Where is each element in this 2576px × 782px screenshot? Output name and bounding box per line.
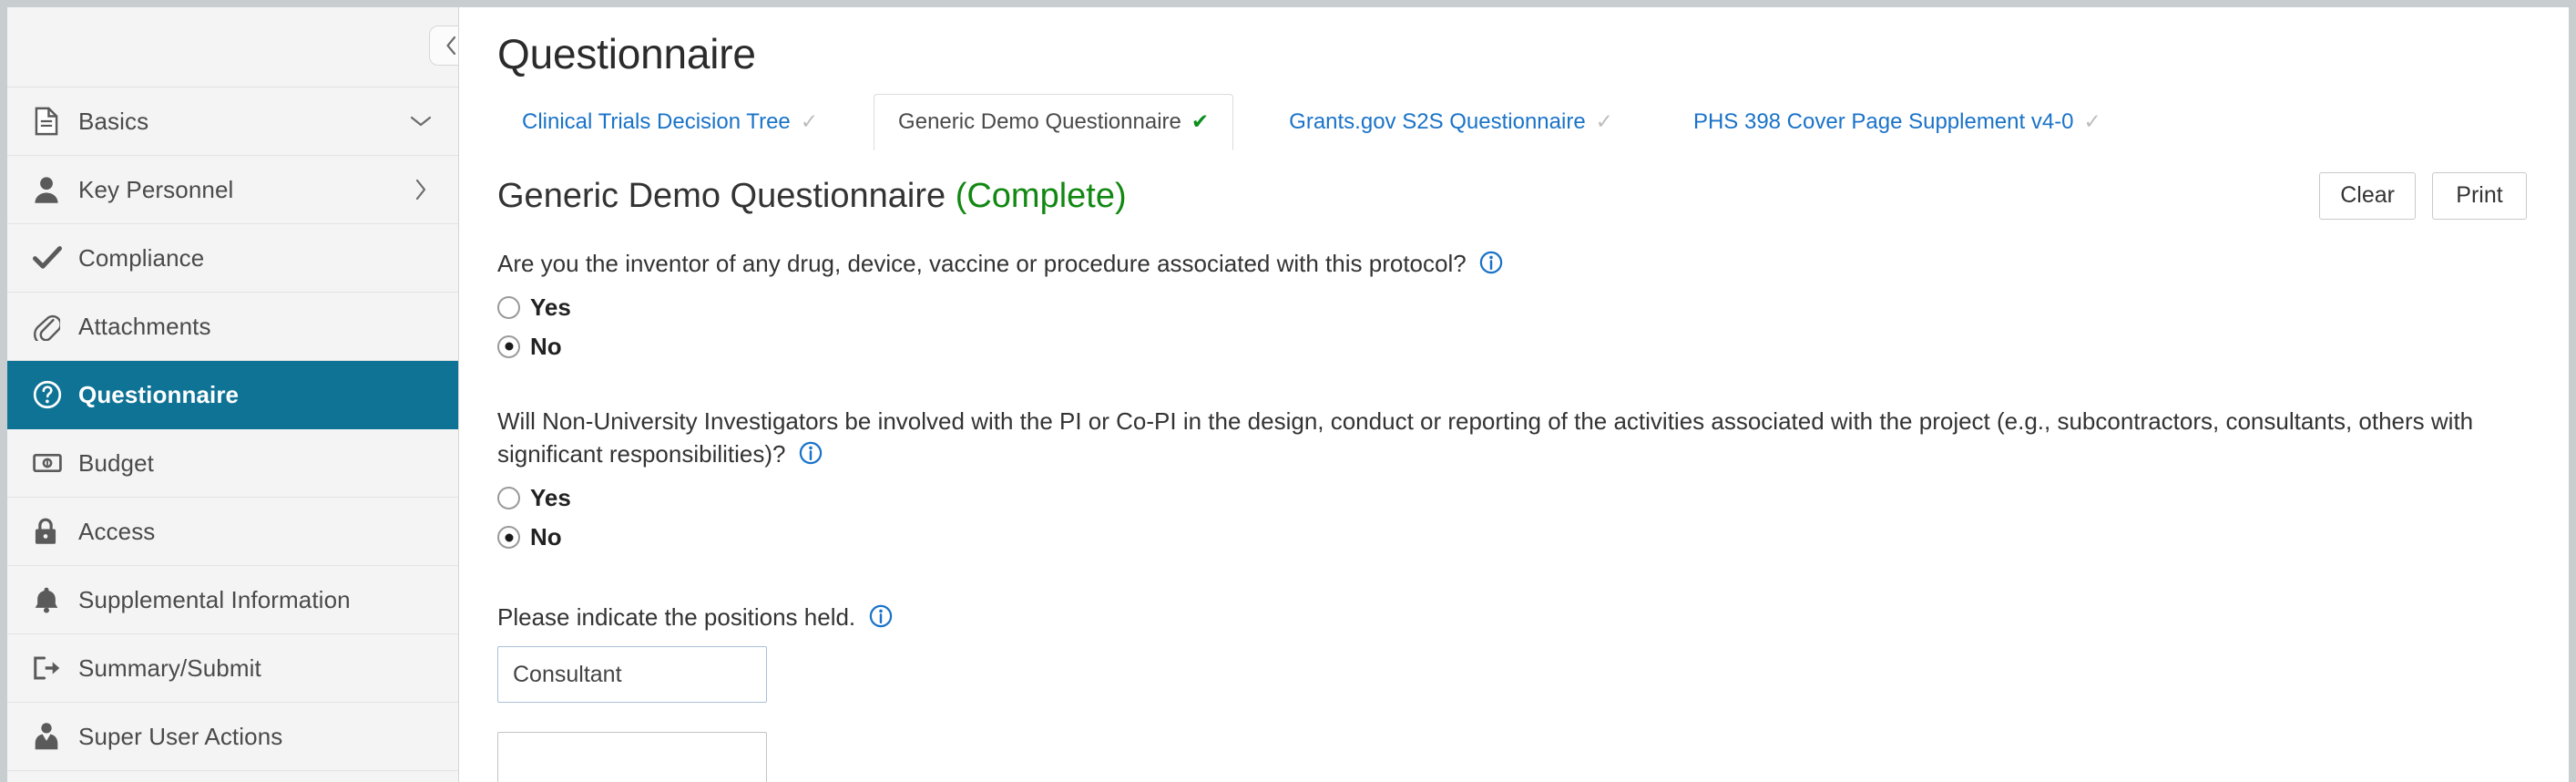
question-2-option-yes[interactable]: Yes — [497, 484, 571, 512]
question-2: Will Non-University Investigators be inv… — [497, 405, 2529, 552]
sidebar-item-label: Basics — [73, 108, 407, 136]
sidebar-item-budget[interactable]: Budget — [7, 429, 458, 498]
chevron-right-icon[interactable] — [407, 178, 434, 201]
check-icon: ✓ — [1596, 111, 1613, 132]
tab-label: Clinical Trials Decision Tree — [522, 109, 791, 135]
sidebar-item-key-personnel[interactable]: Key Personnel — [7, 156, 458, 224]
info-icon[interactable] — [869, 604, 893, 633]
question-1-option-yes[interactable]: Yes — [497, 293, 571, 322]
sidebar-item-supplemental-information[interactable]: Supplemental Information — [7, 566, 458, 634]
questionnaire-tabs: Clinical Trials Decision Tree ✓ Generic … — [497, 94, 2529, 150]
sidebar-item-label: Questionnaire — [73, 381, 407, 409]
paperclip-icon — [33, 312, 73, 341]
question-1: Are you the inventor of any drug, device… — [497, 247, 2529, 361]
sidebar-item-questionnaire[interactable]: Questionnaire — [7, 361, 458, 429]
section-title: Generic Demo Questionnaire (Complete) — [497, 172, 1127, 218]
sidebar: Basics Key Personnel — [7, 7, 459, 782]
radio-button[interactable] — [497, 296, 520, 319]
sidebar-item-label: Access — [73, 518, 407, 546]
check-icon — [33, 244, 73, 272]
tab-grants-gov-s2s-questionnaire[interactable]: Grants.gov S2S Questionnaire ✓ — [1264, 94, 1638, 150]
sidebar-item-summary-submit[interactable]: Summary/Submit — [7, 634, 458, 703]
info-icon[interactable] — [1479, 251, 1503, 279]
radio-label: No — [530, 523, 562, 551]
radio-label: No — [530, 333, 562, 361]
bell-icon — [33, 585, 73, 614]
money-icon — [33, 451, 73, 475]
section-header: Generic Demo Questionnaire (Complete) Cl… — [497, 172, 2529, 220]
exit-icon — [33, 654, 73, 682]
document-icon — [33, 107, 73, 136]
tab-generic-demo-questionnaire[interactable]: Generic Demo Questionnaire ✔ — [874, 94, 1233, 150]
app-frame: Basics Key Personnel — [7, 7, 2569, 782]
sidebar-item-attachments[interactable]: Attachments — [7, 293, 458, 361]
sidebar-item-compliance[interactable]: Compliance — [7, 224, 458, 293]
person-icon — [33, 175, 73, 204]
sidebar-item-super-user-actions[interactable]: Super User Actions — [7, 703, 458, 771]
lock-icon — [33, 517, 73, 546]
sidebar-item-basics[interactable]: Basics — [7, 87, 458, 156]
header-actions: Clear Print — [2319, 172, 2529, 220]
question-text: Are you the inventor of any drug, device… — [497, 250, 1467, 277]
sidebar-item-label: Attachments — [73, 313, 407, 341]
radio-label: Yes — [530, 293, 571, 322]
check-icon: ✔ — [1191, 111, 1209, 132]
positions-held-input-secondary[interactable] — [497, 732, 767, 782]
info-icon[interactable] — [799, 441, 823, 469]
question-1-text-row: Are you the inventor of any drug, device… — [497, 247, 2510, 281]
user-tie-icon — [33, 722, 73, 751]
sidebar-item-label: Summary/Submit — [73, 654, 407, 683]
chevron-left-icon — [442, 33, 459, 58]
clear-button[interactable]: Clear — [2319, 172, 2416, 220]
sidebar-item-label: Supplemental Information — [73, 586, 407, 614]
tab-clinical-trials-decision-tree[interactable]: Clinical Trials Decision Tree ✓ — [497, 94, 843, 150]
sidebar-item-label: Super User Actions — [73, 723, 407, 751]
chevron-down-icon[interactable] — [407, 114, 434, 129]
sidebar-item-access[interactable]: Access — [7, 498, 458, 566]
radio-button[interactable] — [497, 526, 520, 549]
question-2-text-row: Will Non-University Investigators be inv… — [497, 405, 2510, 472]
status-badge: (Complete) — [956, 177, 1127, 215]
question-text: Please indicate the positions held. — [497, 603, 855, 631]
question-circle-icon — [33, 380, 73, 409]
section-title-text: Generic Demo Questionnaire — [497, 177, 946, 215]
question-3: Please indicate the positions held. — [497, 601, 2529, 782]
page-title: Questionnaire — [497, 31, 2529, 77]
sidebar-item-label: Key Personnel — [73, 176, 407, 204]
sidebar-collapse-button[interactable] — [429, 26, 459, 66]
check-icon: ✓ — [2084, 111, 2101, 132]
sidebar-item-label: Compliance — [73, 244, 407, 273]
tab-label: Grants.gov S2S Questionnaire — [1289, 109, 1586, 135]
main-content: Questionnaire Clinical Trials Decision T… — [459, 7, 2569, 782]
positions-held-input[interactable] — [497, 646, 767, 703]
radio-button[interactable] — [497, 335, 520, 358]
question-text: Will Non-University Investigators be inv… — [497, 407, 2473, 468]
tab-phs-398-cover-page-supplement[interactable]: PHS 398 Cover Page Supplement v4-0 ✓ — [1669, 94, 2126, 150]
check-icon: ✓ — [801, 111, 818, 132]
tab-label: PHS 398 Cover Page Supplement v4-0 — [1693, 109, 2074, 135]
app-root: Basics Key Personnel — [0, 0, 2576, 782]
radio-label: Yes — [530, 484, 571, 512]
question-1-option-no[interactable]: No — [497, 333, 562, 361]
print-button[interactable]: Print — [2432, 172, 2527, 220]
sidebar-header — [7, 7, 458, 87]
question-2-option-no[interactable]: No — [497, 523, 562, 551]
tab-label: Generic Demo Questionnaire — [898, 109, 1181, 135]
radio-button[interactable] — [497, 487, 520, 509]
question-3-text-row: Please indicate the positions held. — [497, 601, 2510, 634]
sidebar-item-label: Budget — [73, 449, 407, 478]
